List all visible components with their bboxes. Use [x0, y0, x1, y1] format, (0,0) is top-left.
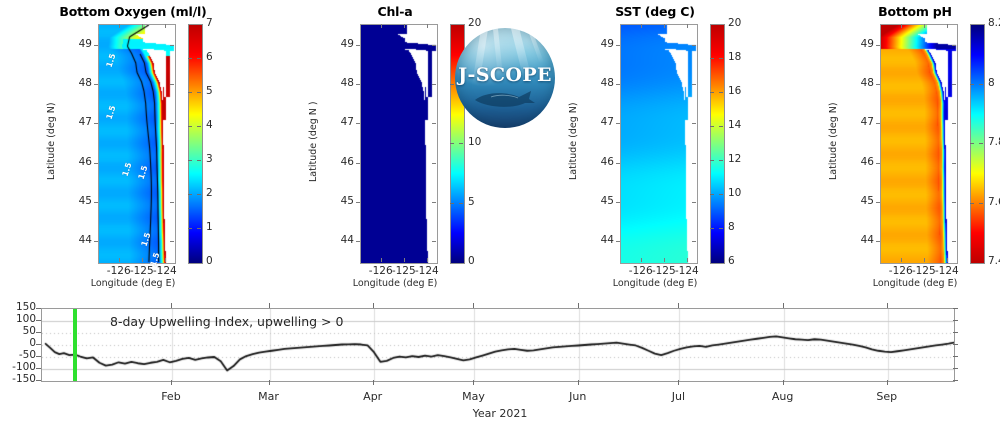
j-scope-logo: J-SCOPE — [455, 28, 555, 128]
latitude-tick-label: 47 — [588, 116, 614, 128]
colorbar-tick-mark — [719, 58, 723, 59]
colorbar-tick-mark — [188, 194, 192, 195]
longitude-tick-mark — [165, 24, 166, 28]
colorbar-tick-label: 14 — [728, 119, 741, 131]
latitude-tick-mark — [170, 84, 174, 85]
latitude-tick-label: 44 — [66, 234, 92, 246]
y-axis-label: Latitude (deg N) — [828, 102, 839, 180]
longitude-tick-mark — [119, 24, 120, 28]
latitude-tick-mark — [94, 202, 98, 203]
longitude-tick-mark — [924, 24, 925, 28]
timeseries-x-tick-mark — [269, 303, 270, 308]
colorbar-tick-label: 1 — [206, 221, 213, 233]
colorbar-tick-label: 7.4 — [988, 255, 1000, 267]
latitude-tick-mark — [432, 84, 436, 85]
longitude-tick-mark — [687, 24, 688, 28]
map-sst — [620, 24, 698, 264]
colorbar-tick-label: 7.8 — [988, 136, 1000, 148]
latitude-tick-label: 49 — [328, 38, 354, 50]
colorbar-tick-mark — [970, 203, 974, 204]
colorbar-bottom-ph — [970, 24, 985, 264]
latitude-tick-mark — [616, 84, 620, 85]
timeseries-y-tick-label: -50 — [0, 349, 36, 361]
latitude-tick-mark — [432, 163, 436, 164]
panel-title: SST (deg C) — [560, 4, 750, 19]
colorbar-tick-mark — [719, 92, 723, 93]
timeseries-y-tick-mark — [36, 344, 41, 345]
colorbar-tick-mark — [710, 126, 714, 127]
y-axis-label: Latitude (deg N) — [568, 102, 579, 180]
x-axis-label: Longitude (deg E) — [58, 278, 208, 289]
timeseries-y-tick-mark — [953, 320, 958, 321]
colorbar-tick-mark — [197, 92, 201, 93]
latitude-tick-mark — [94, 84, 98, 85]
latitude-tick-mark — [876, 123, 880, 124]
latitude-tick-mark — [692, 241, 696, 242]
fish-icon — [471, 88, 541, 110]
colorbar-tick-label: 12 — [728, 153, 741, 165]
colorbar-tick-mark — [188, 160, 192, 161]
colorbar-tick-mark — [188, 126, 192, 127]
latitude-tick-mark — [692, 163, 696, 164]
colorbar-tick-mark — [197, 160, 201, 161]
timeseries-x-tick-mark — [578, 380, 579, 385]
colorbar-tick-label: 10 — [728, 187, 741, 199]
longitude-tick-mark — [404, 24, 405, 28]
colorbar-tick-label: 7 — [206, 17, 213, 29]
colorbar-tick-label: 16 — [728, 85, 741, 97]
timeseries-y-tick-mark — [36, 308, 41, 309]
latitude-tick-mark — [616, 241, 620, 242]
latitude-tick-mark — [432, 45, 436, 46]
colorbar-tick-mark — [188, 58, 192, 59]
longitude-tick-mark — [901, 24, 902, 28]
latitude-tick-label: 48 — [848, 77, 874, 89]
timeseries-annotation: 8-day Upwelling Index, upwelling > 0 — [110, 314, 343, 329]
timeseries-x-tick-mark — [171, 380, 172, 385]
colorbar-tick-label: 8.2 — [988, 17, 1000, 29]
latitude-tick-mark — [692, 123, 696, 124]
timeseries-y-tick-label: -150 — [0, 373, 36, 385]
longitude-tick-label: -124 — [665, 265, 709, 277]
timeseries-x-tick-label: Mar — [239, 390, 299, 403]
latitude-tick-mark — [356, 123, 360, 124]
timeseries-y-tick-mark — [953, 368, 958, 369]
colorbar-tick-mark — [719, 160, 723, 161]
colorbar-tick-mark — [450, 84, 454, 85]
latitude-tick-label: 45 — [588, 195, 614, 207]
latitude-tick-mark — [616, 45, 620, 46]
latitude-tick-mark — [952, 163, 956, 164]
latitude-tick-mark — [952, 45, 956, 46]
timeseries-x-tick-mark — [473, 303, 474, 308]
timeseries-x-tick-mark — [887, 303, 888, 308]
panel-title: Chl-a — [300, 4, 490, 19]
latitude-tick-label: 48 — [66, 77, 92, 89]
timeseries-x-tick-label: Apr — [343, 390, 403, 403]
colorbar-tick-mark — [979, 143, 983, 144]
colorbar-tick-label: 2 — [206, 187, 213, 199]
colorbar-tick-mark — [197, 194, 201, 195]
timeseries-y-tick-label: 0 — [0, 337, 36, 349]
latitude-tick-mark — [356, 84, 360, 85]
longitude-tick-mark — [119, 258, 120, 262]
latitude-tick-mark — [432, 202, 436, 203]
colorbar-tick-mark — [710, 160, 714, 161]
longitude-tick-mark — [427, 258, 428, 262]
longitude-tick-mark — [947, 258, 948, 262]
map-raster — [621, 25, 697, 263]
timeseries-x-tick-mark — [783, 303, 784, 308]
latitude-tick-mark — [94, 163, 98, 164]
longitude-tick-mark — [947, 24, 948, 28]
map-bottom-ph — [880, 24, 958, 264]
timeseries-x-tick-mark — [887, 380, 888, 385]
logo-text: J-SCOPE — [455, 64, 555, 86]
map-chl-a — [360, 24, 438, 264]
latitude-tick-label: 46 — [588, 156, 614, 168]
latitude-tick-mark — [94, 45, 98, 46]
colorbar-tick-label: 10 — [468, 136, 481, 148]
longitude-tick-mark — [924, 258, 925, 262]
logo-circle: J-SCOPE — [455, 28, 555, 128]
timeseries-y-tick-mark — [36, 368, 41, 369]
colorbar-tick-mark — [979, 203, 983, 204]
latitude-tick-label: 49 — [588, 38, 614, 50]
latitude-tick-mark — [692, 202, 696, 203]
colorbar-tick-mark — [979, 84, 983, 85]
map-panel-sst: SST (deg C) Latitude (deg N) Longitude (… — [560, 0, 750, 292]
upwelling-index-timeseries: 8-day Upwelling Index, upwelling > 0 Yea… — [0, 300, 1000, 427]
longitude-tick-mark — [381, 24, 382, 28]
colorbar-tick-mark — [197, 126, 201, 127]
colorbar-tick-mark — [188, 228, 192, 229]
map-panel-bottom-oxygen: Bottom Oxygen (ml/l) Latitude (deg N) Lo… — [38, 0, 228, 292]
colorbar-tick-mark — [450, 203, 454, 204]
latitude-tick-label: 48 — [328, 77, 354, 89]
latitude-tick-mark — [432, 123, 436, 124]
latitude-tick-mark — [952, 84, 956, 85]
y-axis-label: Latitude (deg N) — [46, 102, 57, 180]
latitude-tick-label: 47 — [328, 116, 354, 128]
colorbar-tick-label: 5 — [468, 196, 475, 208]
latitude-tick-mark — [952, 241, 956, 242]
latitude-tick-label: 49 — [848, 38, 874, 50]
timeseries-y-tick-mark — [953, 344, 958, 345]
latitude-tick-label: 46 — [66, 156, 92, 168]
latitude-tick-mark — [170, 202, 174, 203]
timeseries-x-tick-mark — [473, 380, 474, 385]
colorbar-tick-mark — [450, 143, 454, 144]
timeseries-y-tick-mark — [36, 380, 41, 381]
latitude-tick-label: 44 — [588, 234, 614, 246]
latitude-tick-mark — [170, 123, 174, 124]
latitude-tick-mark — [432, 241, 436, 242]
colorbar-tick-label: 18 — [728, 51, 741, 63]
colorbar-tick-mark — [719, 194, 723, 195]
x-axis-label: Longitude (deg E) — [840, 278, 990, 289]
latitude-tick-mark — [356, 163, 360, 164]
timeseries-x-axis-label: Year 2021 — [0, 407, 1000, 420]
latitude-tick-label: 47 — [66, 116, 92, 128]
latitude-tick-label: 44 — [328, 234, 354, 246]
timeseries-y-tick-mark — [36, 356, 41, 357]
colorbar-tick-mark — [459, 203, 463, 204]
colorbar-tick-mark — [188, 92, 192, 93]
forecast-start-marker — [73, 309, 77, 381]
colorbar-tick-label: 0 — [206, 255, 213, 267]
timeseries-y-tick-mark — [36, 320, 41, 321]
colorbar-tick-mark — [710, 58, 714, 59]
timeseries-y-tick-label: -100 — [0, 361, 36, 373]
colorbar-tick-label: 8 — [988, 77, 995, 89]
latitude-tick-mark — [616, 202, 620, 203]
longitude-tick-mark — [404, 258, 405, 262]
latitude-tick-mark — [876, 84, 880, 85]
timeseries-y-tick-mark — [953, 380, 958, 381]
timeseries-x-tick-mark — [783, 380, 784, 385]
colorbar-tick-mark — [719, 126, 723, 127]
longitude-tick-mark — [165, 258, 166, 262]
timeseries-x-tick-label: Jul — [648, 390, 708, 403]
latitude-tick-mark — [876, 241, 880, 242]
latitude-tick-mark — [876, 45, 880, 46]
timeseries-y-tick-mark — [953, 332, 958, 333]
timeseries-y-tick-mark — [953, 356, 958, 357]
timeseries-x-tick-label: May — [443, 390, 503, 403]
latitude-tick-label: 48 — [588, 77, 614, 89]
timeseries-y-tick-mark — [953, 308, 958, 309]
latitude-tick-mark — [170, 241, 174, 242]
map-raster — [881, 25, 957, 263]
latitude-tick-mark — [876, 163, 880, 164]
colorbar-tick-label: 5 — [206, 85, 213, 97]
longitude-tick-mark — [641, 24, 642, 28]
latitude-tick-label: 44 — [848, 234, 874, 246]
colorbar-tick-label: 0 — [468, 255, 475, 267]
longitude-tick-mark — [641, 258, 642, 262]
longitude-tick-mark — [664, 258, 665, 262]
latitude-tick-mark — [170, 163, 174, 164]
colorbar-tick-label: 6 — [728, 255, 735, 267]
latitude-tick-label: 46 — [328, 156, 354, 168]
x-axis-label: Longitude (deg E) — [320, 278, 470, 289]
timeseries-x-tick-mark — [578, 303, 579, 308]
colorbar-tick-label: 7.6 — [988, 196, 1000, 208]
colorbar-tick-mark — [719, 228, 723, 229]
timeseries-x-tick-mark — [373, 303, 374, 308]
longitude-tick-mark — [142, 24, 143, 28]
timeseries-y-tick-label: 100 — [0, 313, 36, 325]
longitude-tick-mark — [142, 258, 143, 262]
panel-title: Bottom pH — [820, 4, 1000, 19]
timeseries-x-tick-mark — [373, 380, 374, 385]
timeseries-y-tick-label: 50 — [0, 325, 36, 337]
colorbar-tick-mark — [710, 228, 714, 229]
latitude-tick-label: 46 — [848, 156, 874, 168]
latitude-tick-label: 45 — [848, 195, 874, 207]
timeseries-x-tick-label: Jun — [548, 390, 608, 403]
x-axis-label: Longitude (deg E) — [580, 278, 730, 289]
y-axis-label: Latitude (deg N ) — [308, 101, 319, 182]
latitude-tick-label: 47 — [848, 116, 874, 128]
latitude-tick-mark — [356, 202, 360, 203]
latitude-tick-mark — [952, 202, 956, 203]
longitude-tick-mark — [427, 24, 428, 28]
timeseries-y-tick-label: 150 — [0, 301, 36, 313]
map-panel-bottom-ph: Bottom pH Latitude (deg N) Longitude (de… — [820, 0, 1000, 292]
longitude-tick-mark — [901, 258, 902, 262]
colorbar-tick-mark — [197, 228, 201, 229]
timeseries-x-tick-mark — [171, 303, 172, 308]
timeseries-x-tick-mark — [269, 380, 270, 385]
latitude-tick-label: 49 — [66, 38, 92, 50]
latitude-tick-mark — [94, 123, 98, 124]
colorbar-tick-label: 3 — [206, 153, 213, 165]
latitude-tick-mark — [692, 84, 696, 85]
latitude-tick-mark — [356, 45, 360, 46]
latitude-tick-mark — [616, 163, 620, 164]
colorbar-tick-mark — [970, 84, 974, 85]
colorbar-tick-label: 6 — [206, 51, 213, 63]
latitude-tick-mark — [876, 202, 880, 203]
colorbar-tick-label: 8 — [728, 221, 735, 233]
latitude-tick-label: 45 — [328, 195, 354, 207]
longitude-tick-mark — [687, 258, 688, 262]
longitude-tick-label: -124 — [925, 265, 969, 277]
colorbar-tick-mark — [710, 92, 714, 93]
longitude-tick-mark — [381, 258, 382, 262]
latitude-tick-mark — [952, 123, 956, 124]
latitude-tick-label: 45 — [66, 195, 92, 207]
timeseries-x-tick-mark — [678, 303, 679, 308]
latitude-tick-mark — [616, 123, 620, 124]
colorbar-tick-label: 20 — [728, 17, 741, 29]
timeseries-y-tick-mark — [36, 332, 41, 333]
colorbar-tick-mark — [197, 58, 201, 59]
jscope-forecast-figure: Bottom Oxygen (ml/l) Latitude (deg N) Lo… — [0, 0, 1000, 427]
panel-title: Bottom Oxygen (ml/l) — [38, 4, 228, 19]
latitude-tick-mark — [94, 241, 98, 242]
latitude-tick-mark — [692, 45, 696, 46]
latitude-tick-mark — [356, 241, 360, 242]
latitude-tick-mark — [170, 45, 174, 46]
map-raster — [361, 25, 437, 263]
longitude-tick-mark — [664, 24, 665, 28]
colorbar-gradient — [971, 25, 984, 263]
timeseries-x-tick-mark — [678, 380, 679, 385]
timeseries-x-tick-label: Feb — [141, 390, 201, 403]
longitude-tick-label: -124 — [405, 265, 449, 277]
timeseries-x-tick-label: Sep — [857, 390, 917, 403]
longitude-tick-label: -124 — [143, 265, 187, 277]
timeseries-x-tick-label: Aug — [753, 390, 813, 403]
colorbar-tick-mark — [970, 143, 974, 144]
colorbar-tick-label: 4 — [206, 119, 213, 131]
colorbar-tick-mark — [459, 143, 463, 144]
colorbar-tick-mark — [710, 194, 714, 195]
